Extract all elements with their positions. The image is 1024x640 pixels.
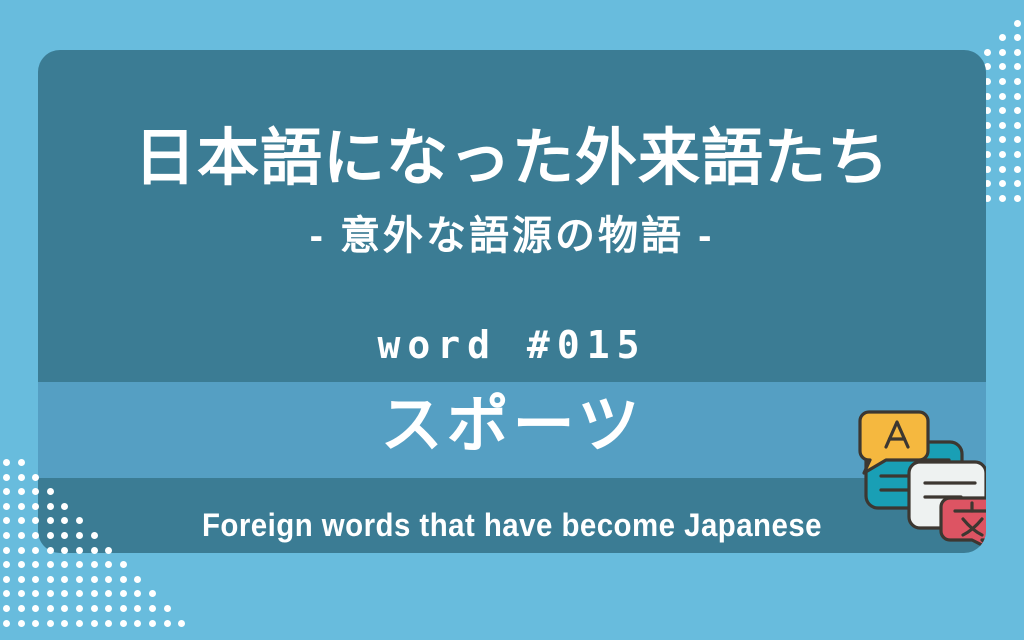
decorative-dot bbox=[999, 166, 1006, 173]
decorative-dot bbox=[3, 561, 10, 568]
decorative-dot bbox=[999, 151, 1006, 158]
decorative-dot bbox=[18, 576, 25, 583]
decorative-dot bbox=[120, 590, 127, 597]
decorative-dot bbox=[3, 620, 10, 627]
decorative-dot bbox=[1014, 78, 1021, 85]
decorative-dot bbox=[1014, 63, 1021, 70]
decorative-dot bbox=[76, 605, 83, 612]
decorative-dot bbox=[1014, 49, 1021, 56]
decorative-dot bbox=[18, 459, 25, 466]
decorative-dot bbox=[999, 107, 1006, 114]
page-subtitle: - 意外な語源の物語 - bbox=[38, 216, 986, 256]
decorative-dot bbox=[61, 561, 68, 568]
decorative-dot bbox=[61, 576, 68, 583]
decorative-dot bbox=[61, 620, 68, 627]
decorative-dot bbox=[120, 561, 127, 568]
decorative-dot bbox=[91, 605, 98, 612]
decorative-dot bbox=[18, 488, 25, 495]
decorative-dot bbox=[1014, 166, 1021, 173]
decorative-dot bbox=[1014, 93, 1021, 100]
decorative-dot bbox=[105, 620, 112, 627]
main-card: 日本語になった外来語たち - 意外な語源の物語 - word #015 スポーツ… bbox=[38, 50, 986, 553]
decorative-dot bbox=[120, 605, 127, 612]
decorative-dot bbox=[178, 620, 185, 627]
decorative-dot bbox=[999, 63, 1006, 70]
decorative-dot bbox=[1014, 195, 1021, 202]
decorative-dot bbox=[1014, 107, 1021, 114]
decorative-dot bbox=[18, 590, 25, 597]
decorative-dot bbox=[47, 620, 54, 627]
decorative-dot bbox=[32, 605, 39, 612]
decorative-dot bbox=[91, 620, 98, 627]
decorative-dot bbox=[47, 576, 54, 583]
decorative-dot bbox=[76, 576, 83, 583]
decorative-dot bbox=[1014, 136, 1021, 143]
decorative-dot bbox=[1014, 180, 1021, 187]
word-number-label: word #015 bbox=[38, 326, 986, 364]
decorative-dot bbox=[1014, 20, 1021, 27]
decorative-dot bbox=[3, 605, 10, 612]
decorative-dot bbox=[999, 78, 1006, 85]
decorative-dot bbox=[18, 532, 25, 539]
decorative-dot bbox=[149, 590, 156, 597]
decorative-dot bbox=[18, 561, 25, 568]
decorative-dot bbox=[1014, 34, 1021, 41]
decorative-dot bbox=[164, 605, 171, 612]
decorative-dot bbox=[105, 605, 112, 612]
decorative-dot bbox=[164, 620, 171, 627]
decorative-dot bbox=[32, 576, 39, 583]
decorative-dot bbox=[105, 561, 112, 568]
decorative-dot bbox=[3, 459, 10, 466]
decorative-dot bbox=[32, 561, 39, 568]
decorative-dot bbox=[47, 590, 54, 597]
decorative-dot bbox=[32, 547, 39, 554]
decorative-dot bbox=[3, 547, 10, 554]
decorative-dot bbox=[18, 517, 25, 524]
decorative-dot bbox=[91, 561, 98, 568]
decorative-dot bbox=[120, 576, 127, 583]
decorative-dot bbox=[76, 561, 83, 568]
decorative-dot bbox=[149, 620, 156, 627]
decorative-dot bbox=[91, 590, 98, 597]
decorative-dot bbox=[1014, 151, 1021, 158]
decorative-dot bbox=[134, 590, 141, 597]
decorative-dot bbox=[47, 561, 54, 568]
decorative-dot bbox=[134, 605, 141, 612]
decorative-dot bbox=[999, 49, 1006, 56]
decorative-dot bbox=[3, 590, 10, 597]
decorative-dot bbox=[76, 620, 83, 627]
decorative-dot bbox=[3, 474, 10, 481]
translate-icon bbox=[853, 398, 986, 546]
decorative-dot bbox=[32, 590, 39, 597]
decorative-dot bbox=[91, 576, 98, 583]
tagline-text: Foreign words that have become Japanese bbox=[76, 509, 948, 541]
decorative-dot bbox=[18, 605, 25, 612]
decorative-dot bbox=[134, 620, 141, 627]
decorative-dot bbox=[61, 605, 68, 612]
decorative-dot bbox=[3, 532, 10, 539]
decorative-dot bbox=[18, 620, 25, 627]
decorative-dot bbox=[18, 547, 25, 554]
decorative-dot bbox=[18, 503, 25, 510]
decorative-dot bbox=[3, 503, 10, 510]
decorative-dot bbox=[999, 180, 1006, 187]
decorative-dot bbox=[999, 93, 1006, 100]
decorative-dot bbox=[134, 576, 141, 583]
decorative-dot bbox=[999, 195, 1006, 202]
decorative-dot bbox=[61, 590, 68, 597]
page-title: 日本語になった外来語たち bbox=[38, 128, 986, 190]
featured-word: スポーツ bbox=[38, 395, 986, 457]
decorative-dot bbox=[105, 576, 112, 583]
decorative-dot bbox=[3, 488, 10, 495]
decorative-dot bbox=[999, 34, 1006, 41]
decorative-dot bbox=[3, 517, 10, 524]
decorative-dot bbox=[999, 136, 1006, 143]
decorative-dot bbox=[18, 474, 25, 481]
decorative-dot bbox=[105, 590, 112, 597]
decorative-dot bbox=[3, 576, 10, 583]
poster-canvas: 日本語になった外来語たち - 意外な語源の物語 - word #015 スポーツ… bbox=[0, 0, 1024, 640]
decorative-dot bbox=[47, 605, 54, 612]
decorative-dot bbox=[120, 620, 127, 627]
decorative-dot bbox=[1014, 122, 1021, 129]
decorative-dot bbox=[149, 605, 156, 612]
decorative-dot bbox=[984, 49, 991, 56]
decorative-dot bbox=[76, 590, 83, 597]
decorative-dot bbox=[32, 620, 39, 627]
decorative-dot bbox=[999, 122, 1006, 129]
